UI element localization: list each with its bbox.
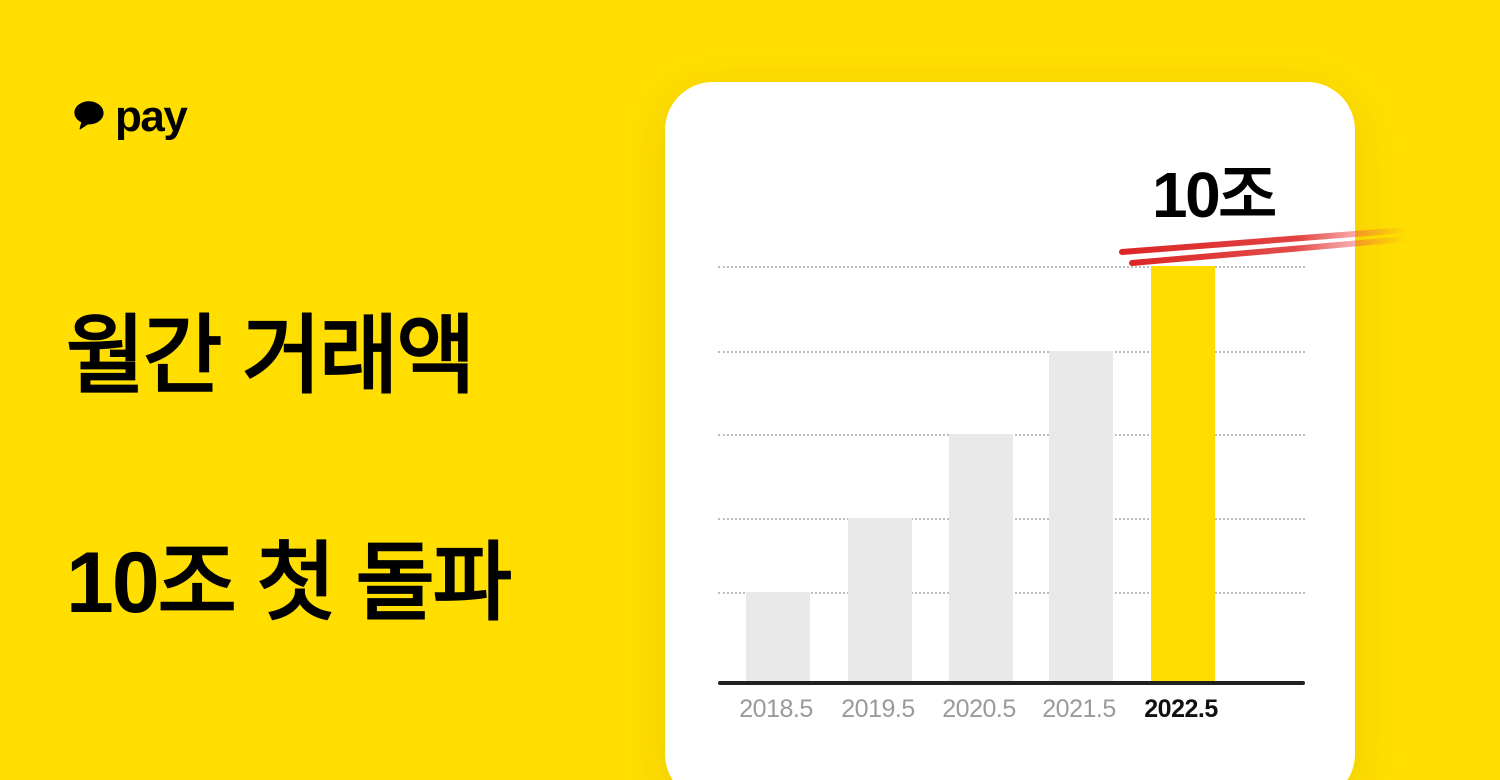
headline-line-1: 월간 거래액 xyxy=(66,300,626,414)
promo-banner: pay 월간 거래액 10조 첫 돌파 2018.5 2019.5 2020.5… xyxy=(0,0,1500,780)
bar-2021[interactable] xyxy=(1049,351,1113,681)
callout-value: 10조 xyxy=(1152,163,1275,227)
brand-word: pay xyxy=(115,95,186,139)
bar-2020[interactable] xyxy=(949,434,1013,681)
headline-line-2: 10조 첫 돌파 xyxy=(66,527,626,641)
bar-2022[interactable] xyxy=(1151,266,1215,681)
tick-label-2022: 2022.5 xyxy=(1121,695,1241,724)
x-axis-line xyxy=(718,681,1305,685)
bar-2018[interactable] xyxy=(746,592,810,681)
kakaopay-logo: pay xyxy=(72,92,186,140)
kakao-speech-bubble-icon xyxy=(72,99,106,133)
bar-2019[interactable] xyxy=(848,518,912,681)
gridline xyxy=(718,266,1305,268)
page-title: 월간 거래액 10조 첫 돌파 xyxy=(66,186,626,754)
gridline xyxy=(718,351,1305,353)
